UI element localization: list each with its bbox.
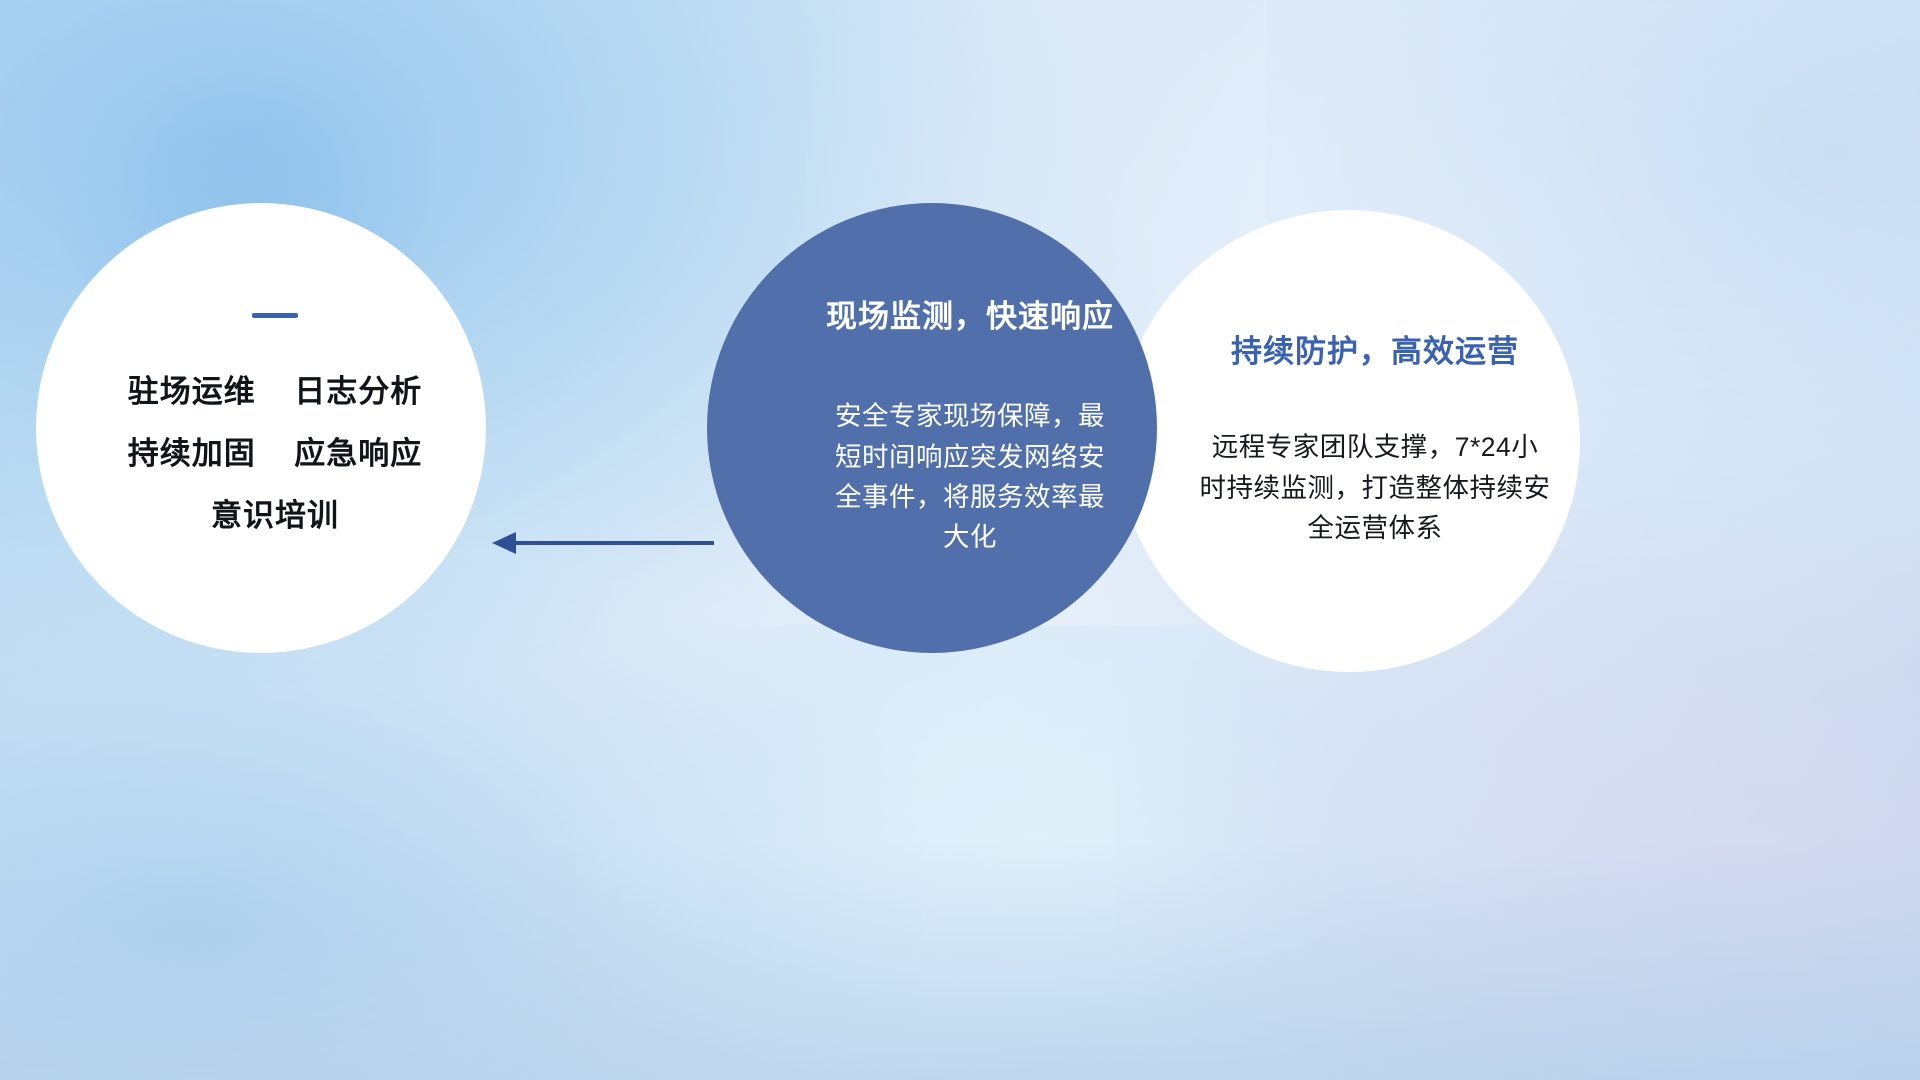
capability-line-1: 驻场运维 日志分析	[128, 376, 422, 407]
circle-continuous-operation-content: 持续防护，高效运营 远程专家团队支撑，7*24小时持续监测，打造整体持续安全运营…	[1199, 334, 1551, 548]
circle-capabilities[interactable]: 驻场运维 日志分析 持续加固 应急响应 意识培训	[36, 203, 486, 653]
circle-continuous-operation[interactable]: 持续防护，高效运营 远程专家团队支撑，7*24小时持续监测，打造整体持续安全运营…	[1118, 210, 1580, 672]
circle-onsite-monitoring[interactable]: 现场监测，快速响应 安全专家现场保障，最短时间响应突发网络安全事件，将服务效率最…	[707, 203, 1157, 653]
circle-onsite-monitoring-title: 现场监测，快速响应	[826, 299, 1114, 335]
circle-capabilities-content: 驻场运维 日志分析 持续加固 应急响应 意识培训	[128, 313, 422, 531]
circle-onsite-monitoring-body: 安全专家现场保障，最短时间响应突发网络安全事件，将服务效率最大化	[831, 396, 1109, 557]
circle-continuous-operation-title: 持续防护，高效运营	[1231, 334, 1519, 370]
circle-onsite-monitoring-content: 现场监测，快速响应 安全专家现场保障，最短时间响应突发网络安全事件，将服务效率最…	[826, 299, 1114, 558]
capability-line-3: 意识培训	[211, 500, 339, 531]
circle-continuous-operation-body: 远程专家团队支撑，7*24小时持续监测，打造整体持续安全运营体系	[1199, 427, 1551, 548]
arrow-left-icon	[492, 524, 714, 562]
horizontal-dash-icon	[252, 313, 298, 318]
capability-line-2: 持续加固 应急响应	[128, 438, 422, 469]
diagram-stage: 驻场运维 日志分析 持续加固 应急响应 意识培训 持续防护，高效运营 远程专家团…	[0, 0, 1920, 1080]
